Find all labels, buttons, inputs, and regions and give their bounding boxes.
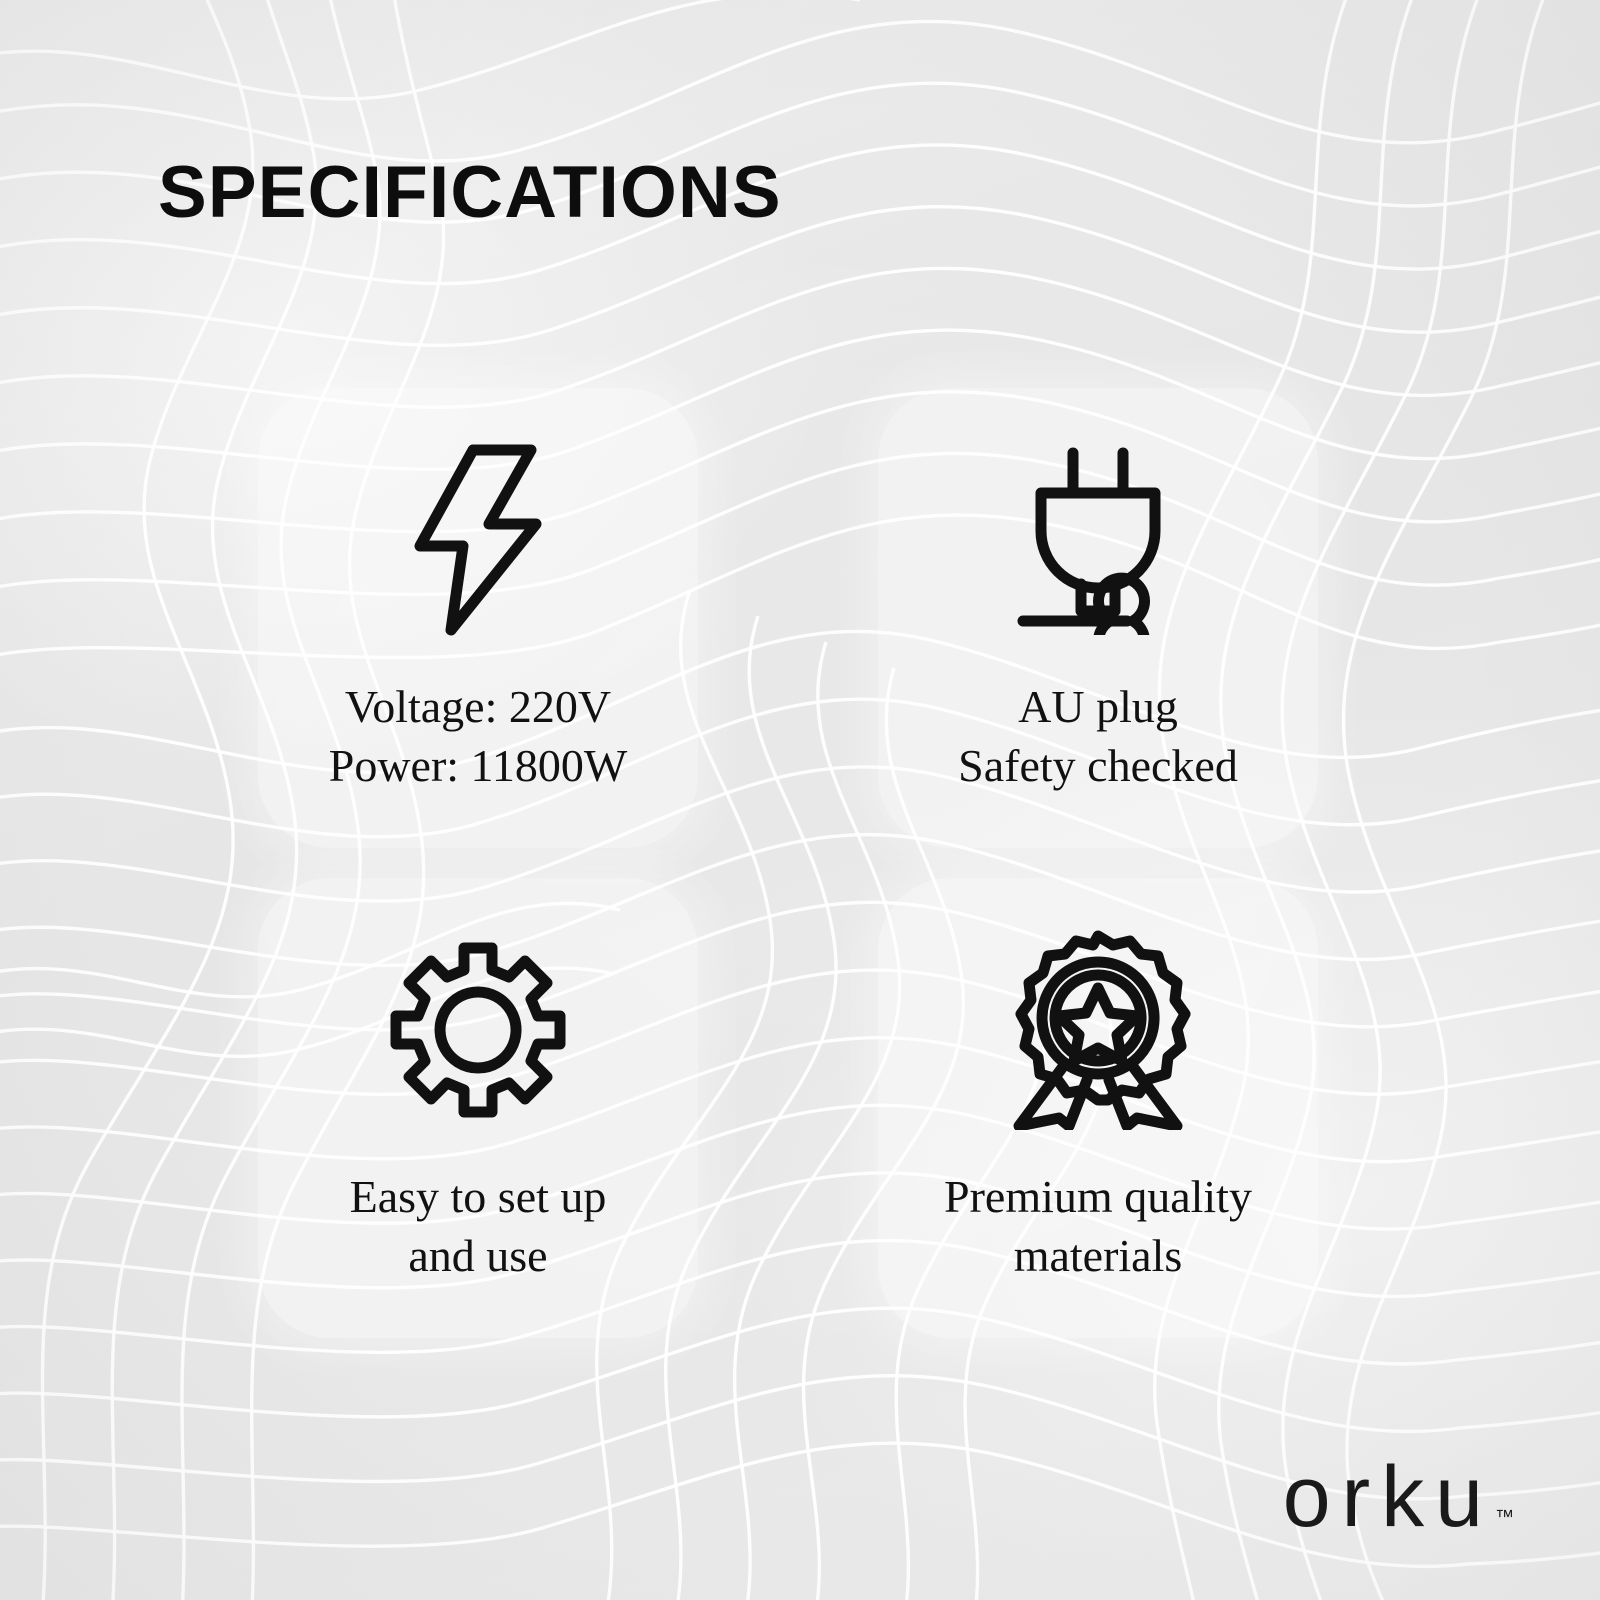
spec-card-text: Voltage: 220V Power: 11800W [329, 678, 628, 796]
spec-card-grid: Voltage: 220V Power: 11800W AU plug S [0, 0, 1600, 1600]
spec-line-2: materials [944, 1227, 1252, 1286]
spec-line-2: and use [350, 1227, 607, 1286]
trademark-symbol: ™ [1495, 1507, 1514, 1529]
spec-card-au-plug: AU plug Safety checked [878, 388, 1318, 848]
spec-card-text: Premium quality materials [944, 1168, 1252, 1286]
spec-line-1: Premium quality [944, 1171, 1252, 1222]
spec-line-1: AU plug [1018, 681, 1178, 732]
spec-line-2: Power: 11800W [329, 737, 628, 796]
power-plug-icon [1015, 440, 1181, 640]
brand-logo-wordmark: orku [1283, 1457, 1494, 1538]
spec-card-easy-setup: Easy to set up and use [258, 878, 698, 1338]
spec-sheet-graphic: SPECIFICATIONS Voltage: 220V Power: 1180… [0, 0, 1600, 1600]
award-ribbon-icon [1003, 930, 1193, 1130]
lightning-bolt-icon [403, 440, 553, 640]
spec-line-1: Easy to set up [350, 1171, 607, 1222]
spec-line-1: Voltage: 220V [345, 681, 611, 732]
spec-card-text: AU plug Safety checked [958, 678, 1238, 796]
brand-logo: orku ™ [1283, 1457, 1514, 1538]
spec-line-2: Safety checked [958, 737, 1238, 796]
spec-card-text: Easy to set up and use [350, 1168, 607, 1286]
spec-card-voltage-power: Voltage: 220V Power: 11800W [258, 388, 698, 848]
spec-card-premium-quality: Premium quality materials [878, 878, 1318, 1338]
gear-icon [390, 930, 566, 1130]
